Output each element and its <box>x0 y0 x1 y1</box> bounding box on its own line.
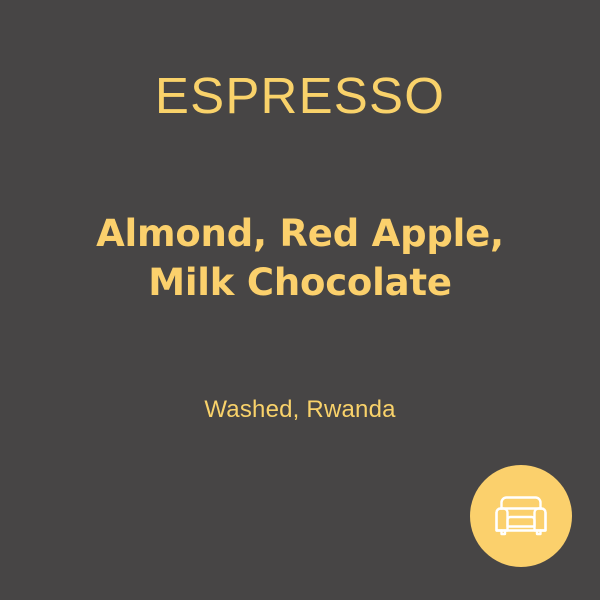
brand-badge <box>470 465 572 567</box>
tasting-notes-line-1: Almond, Red Apple, <box>0 209 600 258</box>
coffee-label-card: ESPRESSO Almond, Red Apple, Milk Chocola… <box>0 0 600 600</box>
tasting-notes: Almond, Red Apple, Milk Chocolate <box>0 209 600 307</box>
origin-subtitle: Washed, Rwanda <box>0 394 600 426</box>
tasting-notes-line-2: Milk Chocolate <box>0 258 600 307</box>
page-title: ESPRESSO <box>0 66 600 126</box>
sofa-icon <box>493 492 549 540</box>
